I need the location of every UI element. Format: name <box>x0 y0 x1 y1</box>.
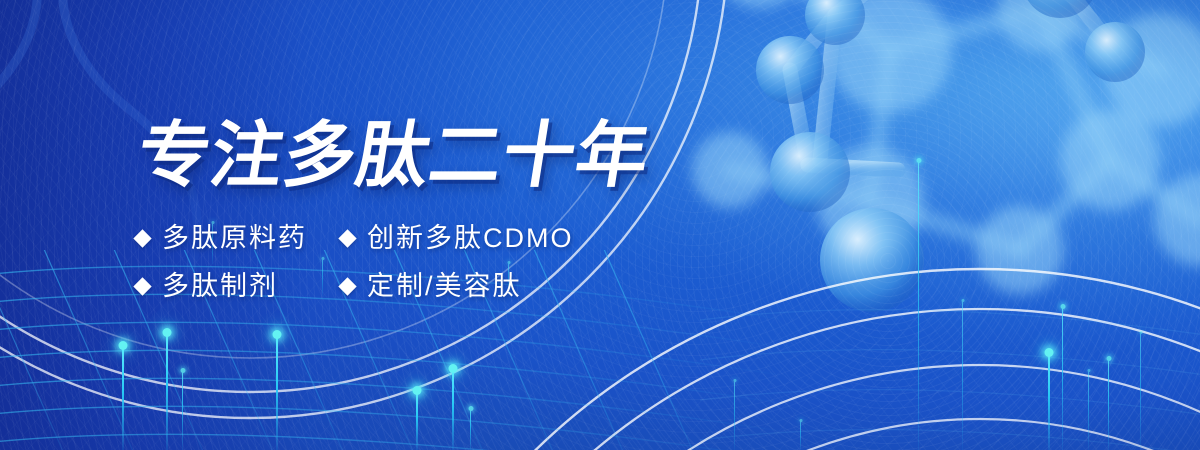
feature-row: 多肽制剂 定制/美容肽 <box>136 262 656 310</box>
feature-item[interactable]: 多肽原料药 <box>136 223 341 253</box>
feature-row: 多肽原料药 创新多肽CDMO <box>136 214 656 262</box>
diamond-bullet-icon <box>338 277 356 295</box>
feature-label: 多肽原料药 <box>162 223 307 253</box>
diamond-bullet-icon <box>133 229 151 247</box>
banner-content: 专注多肽二十年 多肽原料药 创新多肽CDMO 多肽制剂 <box>0 0 1200 450</box>
feature-label: 定制/美容肽 <box>367 271 522 301</box>
diamond-bullet-icon <box>338 229 356 247</box>
page-title: 专注多肽二十年 <box>132 120 654 192</box>
feature-item[interactable]: 创新多肽CDMO <box>341 223 641 253</box>
feature-label: 创新多肽CDMO <box>367 223 574 253</box>
feature-label: 多肽制剂 <box>162 271 278 301</box>
feature-item[interactable]: 定制/美容肽 <box>341 271 641 301</box>
feature-item[interactable]: 多肽制剂 <box>136 271 341 301</box>
feature-list: 多肽原料药 创新多肽CDMO 多肽制剂 定制/美容肽 <box>136 214 656 310</box>
diamond-bullet-icon <box>133 277 151 295</box>
peptide-promo-banner: 专注多肽二十年 多肽原料药 创新多肽CDMO 多肽制剂 <box>0 0 1200 450</box>
